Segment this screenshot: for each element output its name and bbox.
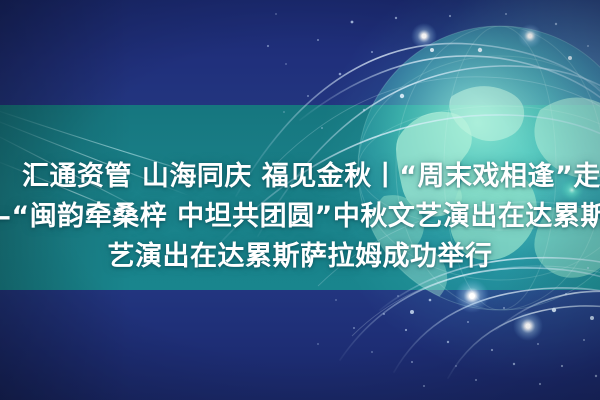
background-band-middle bbox=[0, 105, 600, 290]
banner-image: 汇通资管 山海同庆 福见金秋丨“周末戏相逢”走 —“闽韵牵桑梓 中坦共团圆”中秋… bbox=[0, 0, 600, 400]
background-band-top bbox=[0, 0, 600, 105]
background-band-bottom bbox=[0, 290, 600, 400]
